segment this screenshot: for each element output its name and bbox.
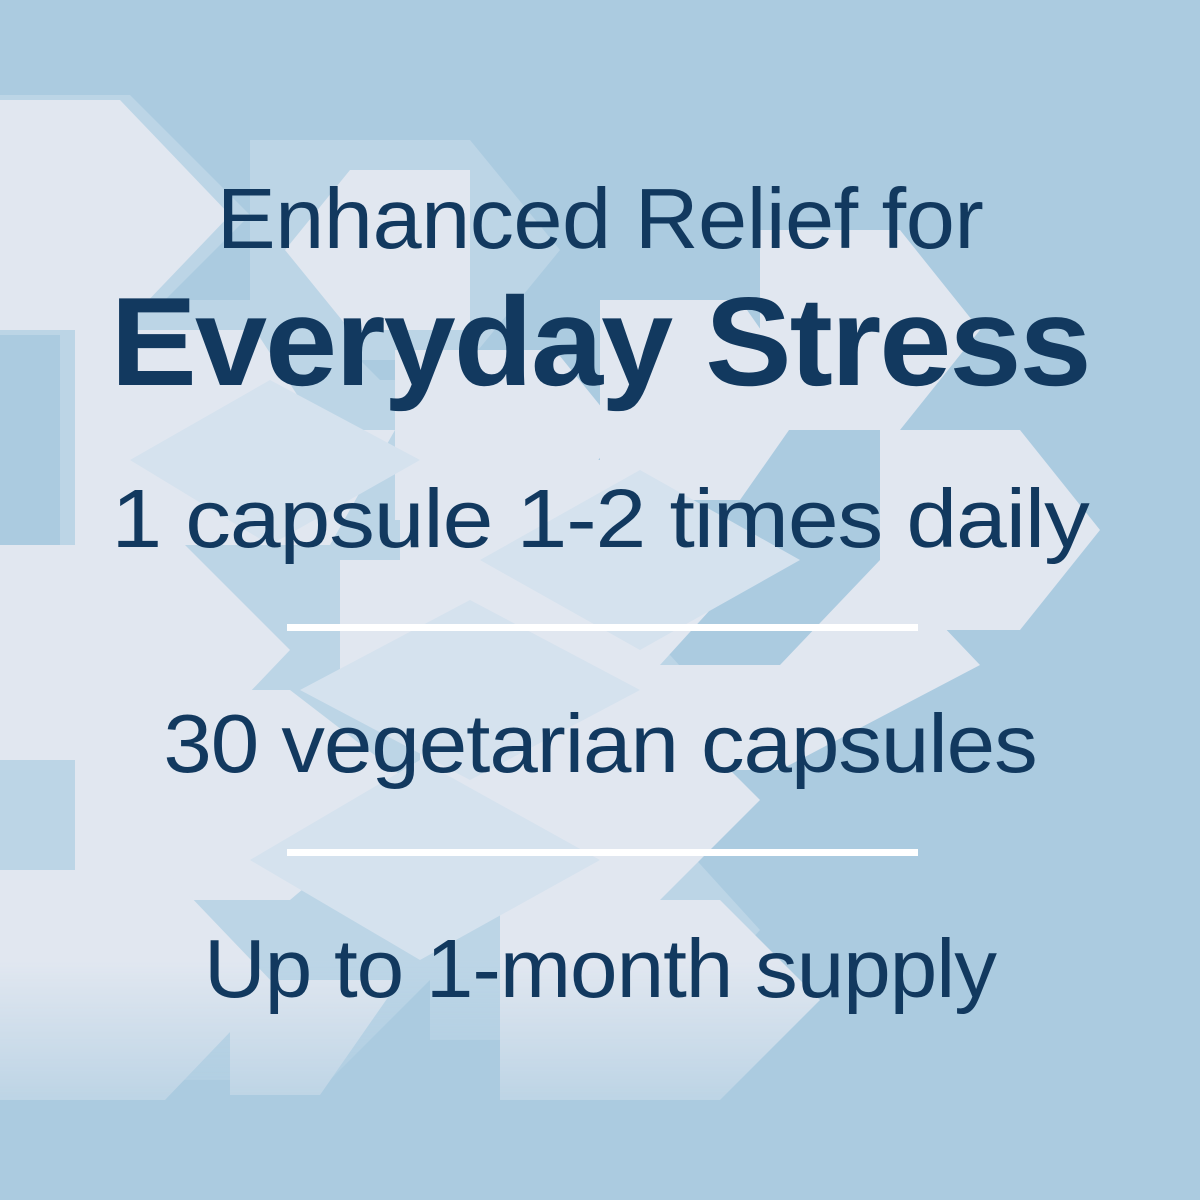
promo-eyebrow: Enhanced Relief for [0, 177, 1200, 262]
divider-rule-2 [287, 849, 918, 856]
promo-fact-count: 30 vegetarian capsules [0, 702, 1200, 785]
promo-fact-supply: Up to 1-month supply [0, 927, 1200, 1010]
product-infographic-card: Enhanced Relief for Everyday Stress 1 ca… [0, 0, 1200, 1200]
promo-fact-dosage: 1 capsule 1-2 times daily [0, 477, 1200, 560]
promo-headline: Everyday Stress [0, 279, 1200, 405]
promo-text-stack: Enhanced Relief for Everyday Stress 1 ca… [0, 0, 1200, 1200]
divider-rule-1 [287, 624, 918, 631]
